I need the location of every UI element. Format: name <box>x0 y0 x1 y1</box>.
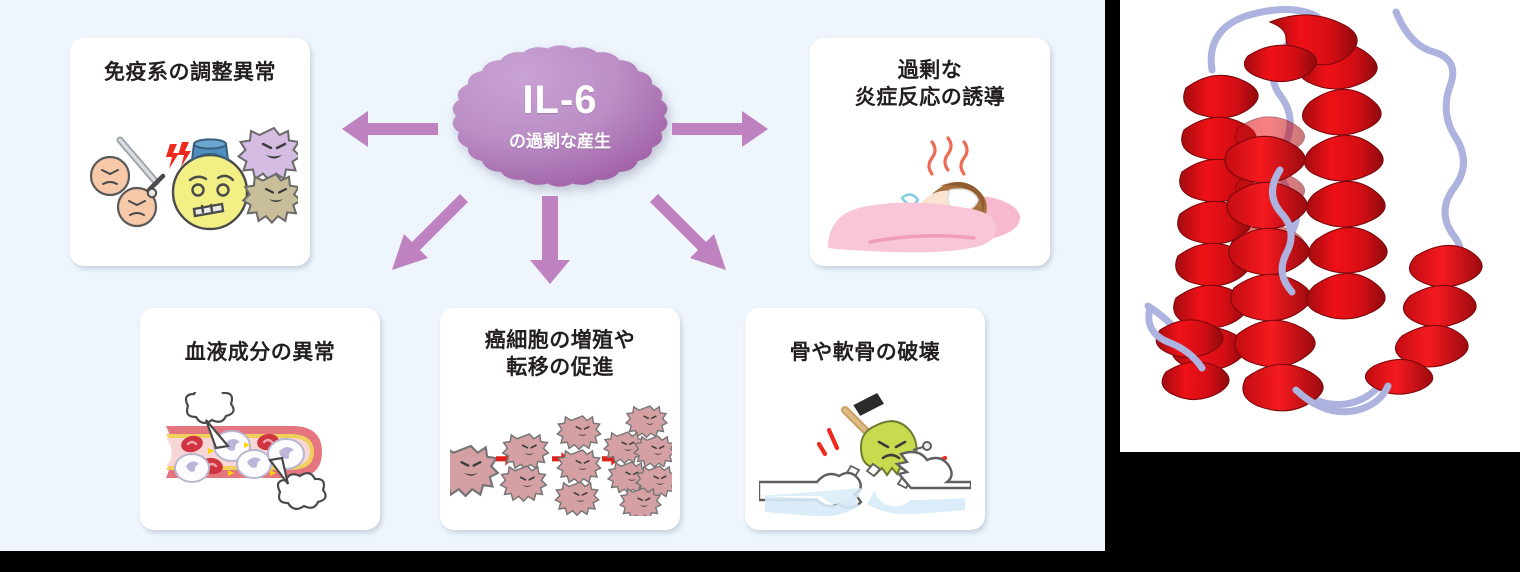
protein-ribbon-diagram <box>1120 0 1520 452</box>
arrow-right <box>672 105 772 153</box>
card-cancer-proliferation[interactable]: 癌細胞の増殖や 転移の促進 <box>440 308 680 530</box>
card-title-bone: 骨や軟骨の破壊 <box>745 340 985 367</box>
card-excess-inflammation[interactable]: 過剰な 炎症反応の誘導 <box>810 38 1050 266</box>
card-title-blood: 血液成分の異常 <box>140 340 380 367</box>
card-title-line: 癌細胞の増殖や <box>440 328 680 355</box>
center-badge-il6[interactable]: IL-6 の過剰な産生 <box>448 42 672 190</box>
il6-protein-structure-panel <box>1120 0 1520 452</box>
illustration-blood-vessel-with-cells <box>162 392 362 516</box>
card-immune-dysregulation[interactable]: 免疫系の調整異常 <box>70 38 310 266</box>
arrow-down <box>526 196 574 286</box>
card-title-cancer: 癌細胞の増殖や 転移の促進 <box>440 328 680 382</box>
arrow-down-left <box>382 192 468 278</box>
card-title-line: 過剰な <box>810 58 1050 85</box>
card-title-inflammation: 過剰な 炎症反応の誘導 <box>810 58 1050 112</box>
card-title-line: 血液成分の異常 <box>140 340 380 367</box>
black-area-bottom <box>0 551 1520 572</box>
figure-root: 免疫系の調整異常 <box>0 0 1520 572</box>
illustration-immune-cells-fighting-viruses <box>82 120 298 252</box>
arrow-left <box>338 105 438 153</box>
illustration-cell-hammering-bone <box>759 392 971 518</box>
card-bone-destruction[interactable]: 骨や軟骨の破壊 <box>745 308 985 530</box>
panel-divider <box>1105 0 1120 572</box>
card-title-line: 転移の促進 <box>440 355 680 382</box>
badge-burst-shape <box>448 42 672 190</box>
il6-effects-diagram: 免疫系の調整異常 <box>0 0 1105 551</box>
card-title-line: 免疫系の調整異常 <box>70 60 310 87</box>
card-title-line: 炎症反応の誘導 <box>810 85 1050 112</box>
card-title-immune: 免疫系の調整異常 <box>70 60 310 87</box>
illustration-person-with-fever-in-bed <box>824 136 1036 254</box>
illustration-cancer-cells-multiplying <box>450 404 672 516</box>
arrow-down-right <box>650 192 736 278</box>
card-title-line: 骨や軟骨の破壊 <box>745 340 985 367</box>
card-blood-abnormality[interactable]: 血液成分の異常 <box>140 308 380 530</box>
